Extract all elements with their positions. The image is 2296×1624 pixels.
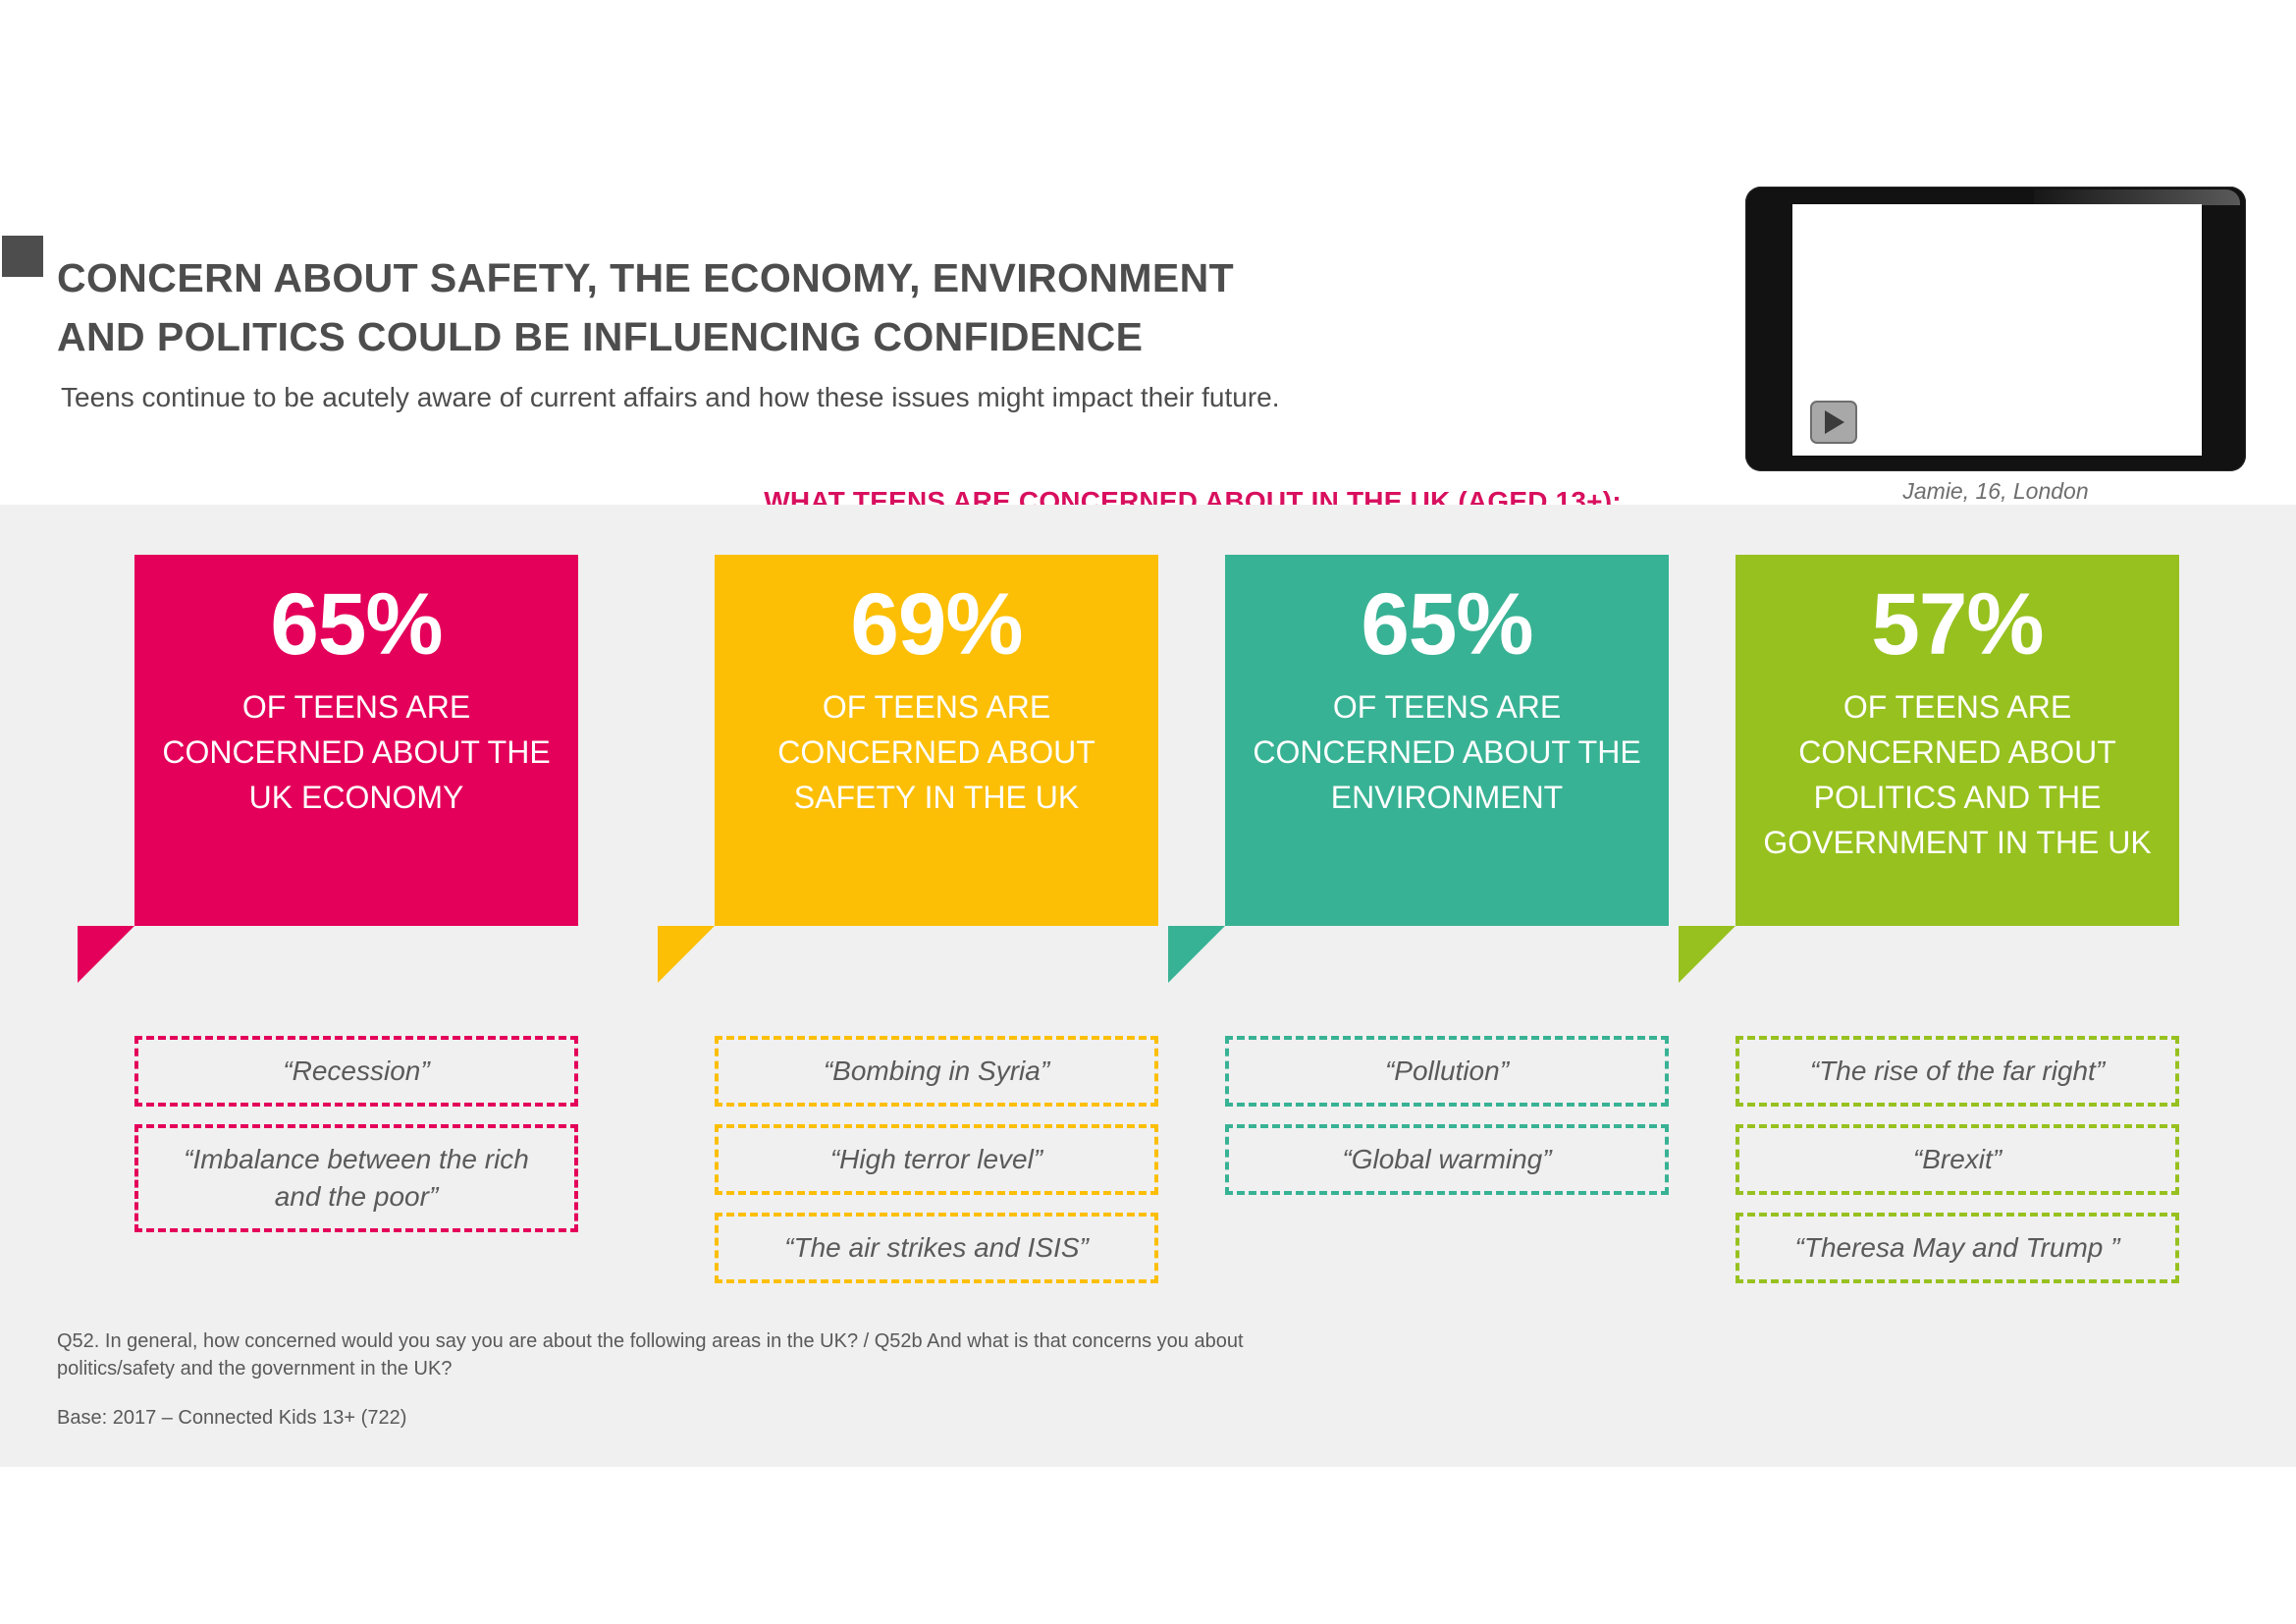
stat-column-economy: 65% OF TEENS ARE CONCERNED ABOUT THE UK … <box>134 555 578 926</box>
quote-box: “The rise of the far right” <box>1735 1036 2179 1107</box>
stat-column-environment: 65% OF TEENS ARE CONCERNED ABOUT THE ENV… <box>1225 555 1669 926</box>
title-bullet-square <box>2 236 43 277</box>
stat-bubble: 65% OF TEENS ARE CONCERNED ABOUT THE UK … <box>134 555 578 926</box>
quote-box: “Pollution” <box>1225 1036 1669 1107</box>
quote-list: “Bombing in Syria” “High terror level” “… <box>715 1036 1158 1301</box>
stat-bubble-tail <box>1168 926 1225 983</box>
stat-bubble: 69% OF TEENS ARE CONCERNED ABOUT SAFETY … <box>715 555 1158 926</box>
stat-columns: 65% OF TEENS ARE CONCERNED ABOUT THE UK … <box>0 505 2296 1467</box>
stat-bubble-tail <box>1679 926 1735 983</box>
quote-box: “Bombing in Syria” <box>715 1036 1158 1107</box>
quote-box: “Imbalance between the rich and the poor… <box>134 1124 578 1232</box>
quote-box: “The air strikes and ISIS” <box>715 1213 1158 1283</box>
stat-percent: 65% <box>1225 576 1669 671</box>
play-triangle-icon <box>1825 410 1844 434</box>
stat-column-safety: 69% OF TEENS ARE CONCERNED ABOUT SAFETY … <box>715 555 1158 926</box>
stat-caption: OF TEENS ARE CONCERNED ABOUT THE ENVIRON… <box>1225 684 1669 820</box>
stat-bubble-text: 57% OF TEENS ARE CONCERNED ABOUT POLITIC… <box>1735 555 2179 865</box>
quote-list: “Pollution” “Global warming” <box>1225 1036 1669 1213</box>
quote-box: “Brexit” <box>1735 1124 2179 1195</box>
quote-box: “High terror level” <box>715 1124 1158 1195</box>
stat-caption: OF TEENS ARE CONCERNED ABOUT SAFETY IN T… <box>715 684 1158 820</box>
page-subtitle: Teens continue to be acutely aware of cu… <box>61 381 1681 414</box>
play-icon[interactable] <box>1810 401 1857 444</box>
stat-bubble-text: 69% OF TEENS ARE CONCERNED ABOUT SAFETY … <box>715 555 1158 820</box>
stat-caption: OF TEENS ARE CONCERNED ABOUT POLITICS AN… <box>1735 684 2179 865</box>
page-title-line-1: CONCERN ABOUT SAFETY, THE ECONOMY, ENVIR… <box>57 255 1234 300</box>
quote-list: “Recession” “Imbalance between the rich … <box>134 1036 578 1250</box>
stat-bubble: 65% OF TEENS ARE CONCERNED ABOUT THE ENV… <box>1225 555 1669 926</box>
quote-list: “The rise of the far right” “Brexit” “Th… <box>1735 1036 2179 1301</box>
footnotes: Q52. In general, how concerned would you… <box>57 1327 1333 1432</box>
stat-bubble-tail <box>78 926 134 983</box>
page-title: CONCERN ABOUT SAFETY, THE ECONOMY, ENVIR… <box>57 248 1628 366</box>
stat-bubble-text: 65% OF TEENS ARE CONCERNED ABOUT THE ENV… <box>1225 555 1669 820</box>
stat-percent: 65% <box>134 576 578 671</box>
quote-box: “Theresa May and Trump ” <box>1735 1213 2179 1283</box>
tablet-screen <box>1792 204 2202 456</box>
quote-box: “Recession” <box>134 1036 578 1107</box>
stat-caption: OF TEENS ARE CONCERNED ABOUT THE UK ECON… <box>134 684 578 820</box>
tablet-device <box>1745 187 2246 471</box>
stat-percent: 57% <box>1735 576 2179 671</box>
footnote-question: Q52. In general, how concerned would you… <box>57 1327 1333 1382</box>
tablet-glare <box>2034 189 2240 205</box>
stat-bubble-tail <box>658 926 715 983</box>
tablet-caption: Jamie, 16, London <box>1745 478 2246 505</box>
stat-bubble-text: 65% OF TEENS ARE CONCERNED ABOUT THE UK … <box>134 555 578 820</box>
stat-percent: 69% <box>715 576 1158 671</box>
footnote-base: Base: 2017 – Connected Kids 13+ (722) <box>57 1404 1333 1432</box>
quote-box: “Global warming” <box>1225 1124 1669 1195</box>
stat-bubble: 57% OF TEENS ARE CONCERNED ABOUT POLITIC… <box>1735 555 2179 926</box>
page-title-line-2: AND POLITICS COULD BE INFLUENCING CONFID… <box>57 307 1628 366</box>
stat-column-politics: 57% OF TEENS ARE CONCERNED ABOUT POLITIC… <box>1735 555 2179 926</box>
